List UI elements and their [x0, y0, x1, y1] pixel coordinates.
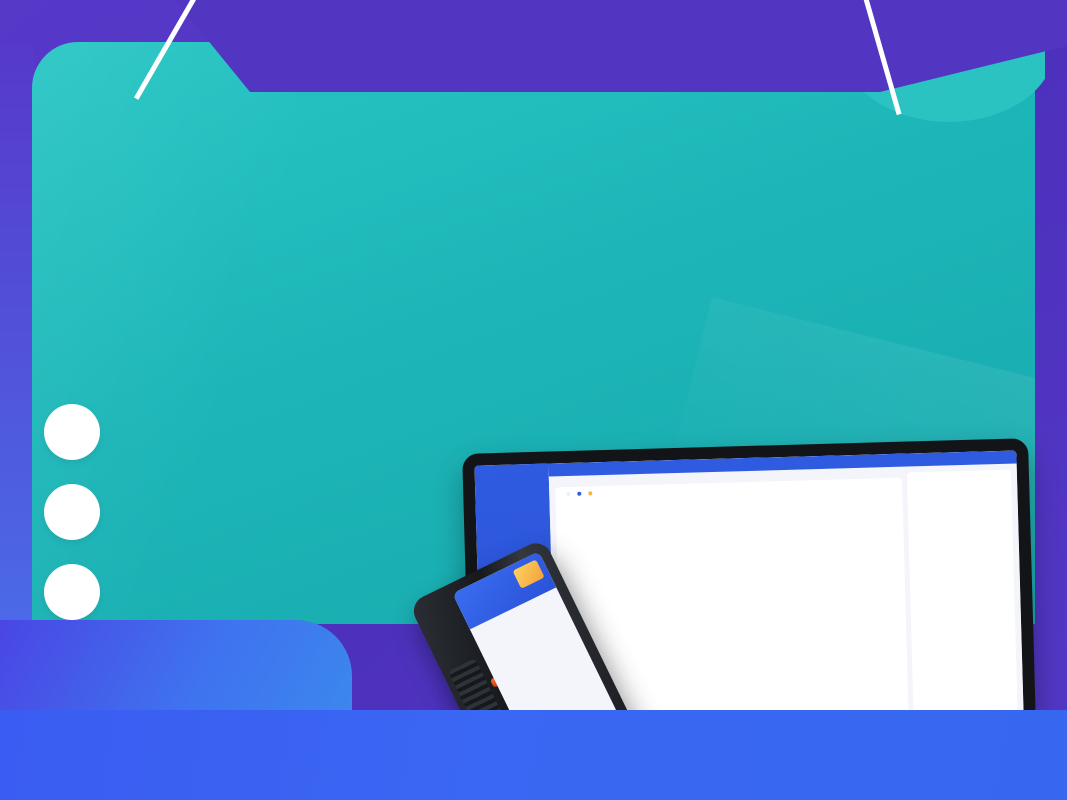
list-item [44, 484, 124, 540]
poster-canvas [0, 0, 1067, 800]
list-item [44, 564, 124, 620]
dashboard-right-panel [907, 470, 1018, 718]
list-item [44, 404, 124, 460]
bottom-bar [0, 710, 1067, 800]
apps-grid [913, 482, 1005, 485]
feature-number-badge [44, 564, 100, 620]
dashboard-body [549, 463, 1024, 733]
left-accent-strip [0, 42, 34, 624]
feature-list [44, 404, 124, 644]
ranking-list [913, 479, 1005, 482]
apps-title [913, 482, 1005, 485]
dashboard-brand [475, 470, 549, 488]
heatmap-legend-1 [577, 492, 583, 496]
dashboard-main [548, 450, 1023, 733]
feature-number-badge [44, 404, 100, 460]
pda-banner-card [513, 559, 545, 588]
feature-number-badge [44, 484, 100, 540]
heatmap-header [561, 483, 896, 496]
ranking-header [913, 475, 1005, 478]
heatmap-legend-2 [588, 491, 594, 495]
heatmap-legend-0 [566, 492, 572, 496]
